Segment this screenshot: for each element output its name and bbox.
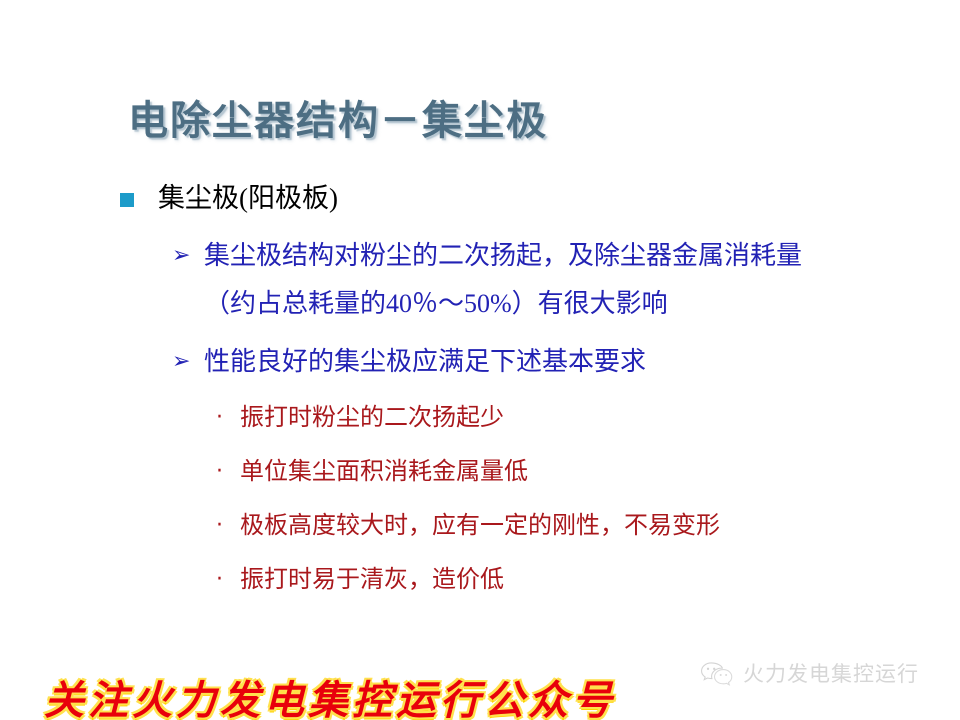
bullet-level3-item: · 极板高度较大时，应有一定的刚性，不易变形 [0, 504, 960, 548]
dot-bullet-icon: · [216, 396, 234, 440]
bullet-level2-item: ➢ 性能良好的集尘极应满足下述基本要求 [0, 340, 960, 384]
bullet-level3-label: 振打时粉尘的二次扬起少 [240, 405, 504, 431]
slide-canvas: 电除尘器结构－集尘极 集尘极(阳极板) ➢ 集尘极结构对粉尘的二次扬起，及除尘器… [0, 0, 960, 720]
dot-bullet-icon: · [216, 504, 234, 548]
bullet-level3-label: 单位集尘面积消耗金属量低 [240, 459, 528, 485]
slide-body: 集尘极(阳极板) ➢ 集尘极结构对粉尘的二次扬起，及除尘器金属消耗量 （约占总耗… [0, 180, 960, 612]
arrow-bullet-icon: ➢ [172, 234, 196, 278]
arrow-bullet-icon: ➢ [172, 340, 196, 384]
bullet-level3-label: 极板高度较大时，应有一定的刚性，不易变形 [240, 513, 720, 539]
bullet-level2-label: 性能良好的集尘极应满足下述基本要求 [204, 347, 646, 376]
bullet-level1-label: 集尘极(阳极板) [158, 183, 338, 213]
bullet-level3-item: · 单位集尘面积消耗金属量低 [0, 450, 960, 494]
bullet-level3-item: · 振打时易于清灰，造价低 [0, 558, 960, 602]
page-title: 电除尘器结构－集尘极 [128, 88, 548, 146]
dot-bullet-icon: · [216, 558, 234, 602]
bullet-level3-label: 振打时易于清灰，造价低 [240, 567, 504, 593]
bullet-level2-item: ➢ 集尘极结构对粉尘的二次扬起，及除尘器金属消耗量 [0, 234, 960, 278]
bullet-level1-item: 集尘极(阳极板) [0, 180, 960, 216]
bullet-level2-label: 集尘极结构对粉尘的二次扬起，及除尘器金属消耗量 [204, 241, 802, 270]
square-bullet-icon [120, 193, 134, 207]
promo-banner-text: 关注火力发电集控运行公众号 [44, 668, 616, 720]
watermark: 火力发电集控运行 [700, 658, 919, 688]
bullet-level2-continuation: （约占总耗量的40％～50%）有很大影响 [0, 282, 960, 326]
bullet-level3-item: · 振打时粉尘的二次扬起少 [0, 396, 960, 440]
wechat-icon [700, 660, 734, 686]
dot-bullet-icon: · [216, 450, 234, 494]
watermark-label: 火力发电集控运行 [743, 658, 919, 688]
